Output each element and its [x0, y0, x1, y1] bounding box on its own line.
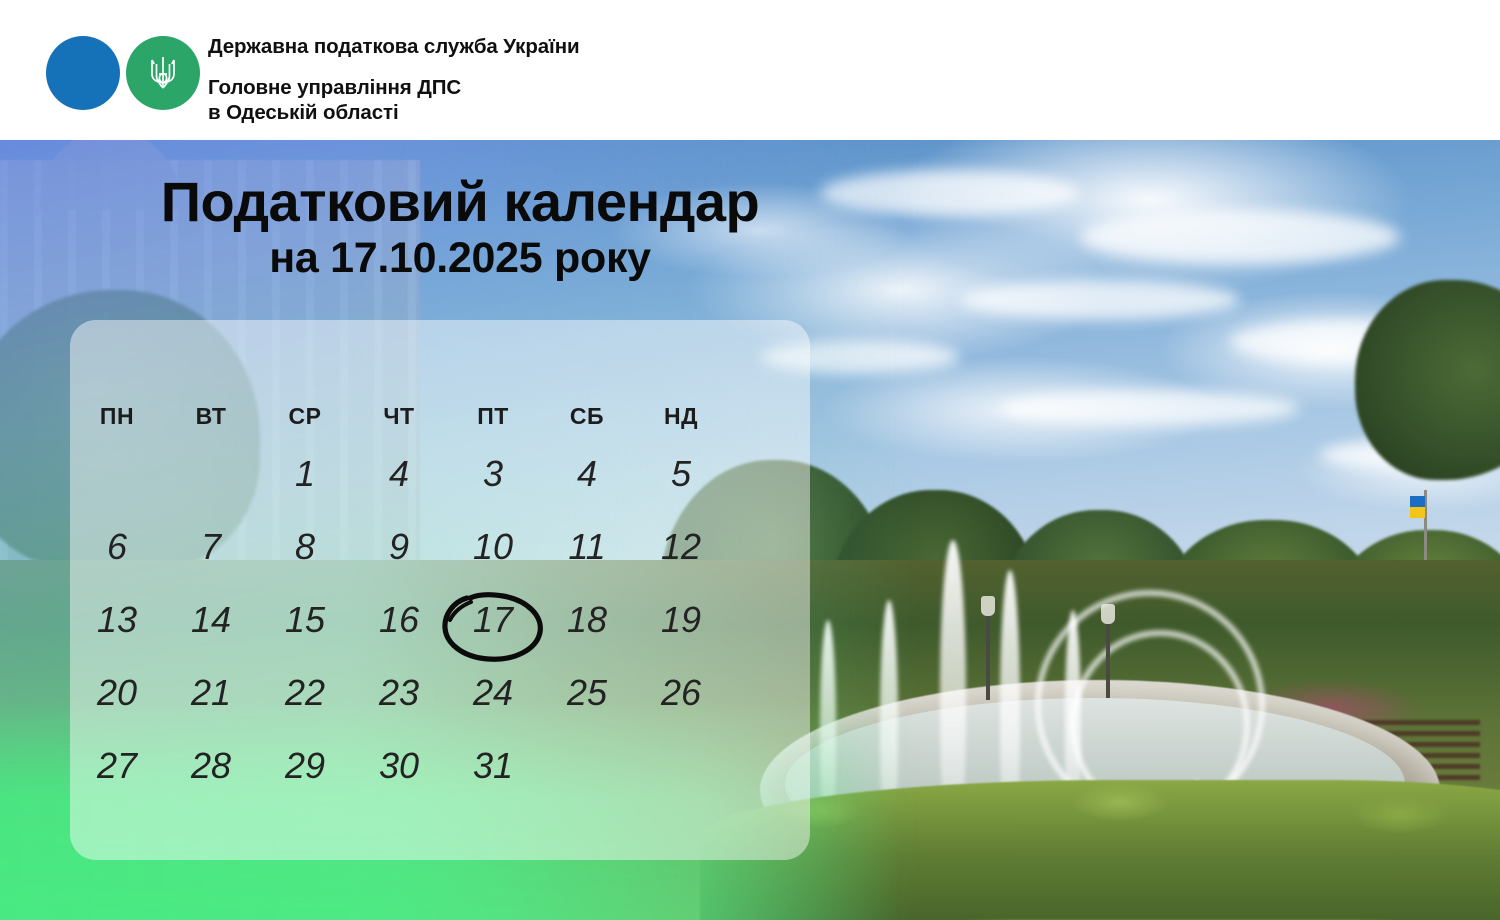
calendar-day-cell[interactable]: 15: [258, 590, 352, 663]
calendar-weekday-header-row: ПН ВТ СР ЧТ ПТ СБ НД: [70, 400, 810, 444]
page-header: Державна податкова служба України Головн…: [0, 0, 1500, 140]
calendar-day-cell[interactable]: 1: [258, 444, 352, 517]
calendar-day-cell[interactable]: 4: [352, 444, 446, 517]
calendar-day-cell[interactable]: 27: [70, 736, 164, 809]
calendar-day-cell[interactable]: 9: [352, 517, 446, 590]
organization-name-block: Державна податкова служба України Головн…: [208, 36, 1008, 126]
calendar-day-cell[interactable]: 21: [164, 663, 258, 736]
calendar-day-cell[interactable]: 12: [634, 517, 728, 590]
calendar-day-cell[interactable]: 23: [352, 663, 446, 736]
page-title: Податковий календар: [60, 172, 860, 231]
weekday-header-wed: СР: [258, 400, 352, 444]
calendar-day-cell[interactable]: 4: [540, 444, 634, 517]
calendar-week-row: 1 4 3 4 5: [70, 444, 810, 517]
calendar-day-cell[interactable]: 24: [446, 663, 540, 736]
weekday-header-fri: ПТ: [446, 400, 540, 444]
calendar-day-number: 17: [473, 599, 513, 640]
calendar-grid: ПН ВТ СР ЧТ ПТ СБ НД 1 4 3 4 5 6 7 8 9 1…: [70, 400, 810, 809]
ukraine-trident-icon: [126, 36, 200, 110]
page-title-block: Податковий календар на 17.10.2025 року: [60, 172, 860, 283]
calendar-day-cell[interactable]: 28: [164, 736, 258, 809]
calendar-day-cell: [634, 736, 728, 809]
calendar-day-cell[interactable]: 10: [446, 517, 540, 590]
organization-department: Головне управління ДПС: [208, 75, 1008, 101]
calendar-day-cell: [164, 444, 258, 517]
organization-logo: [46, 36, 206, 110]
calendar-week-row: 27 28 29 30 31: [70, 736, 810, 809]
calendar-day-cell[interactable]: 5: [634, 444, 728, 517]
calendar-day-cell[interactable]: 11: [540, 517, 634, 590]
calendar-week-row: 6 7 8 9 10 11 12: [70, 517, 810, 590]
calendar-day-cell[interactable]: 22: [258, 663, 352, 736]
calendar-day-cell[interactable]: 25: [540, 663, 634, 736]
calendar-day-cell[interactable]: 14: [164, 590, 258, 663]
calendar-day-cell: [540, 736, 634, 809]
logo-blue-circle: [46, 36, 120, 110]
calendar-day-cell[interactable]: 13: [70, 590, 164, 663]
calendar-day-cell[interactable]: 16: [352, 590, 446, 663]
calendar-day-cell: [70, 444, 164, 517]
calendar-day-cell[interactable]: 30: [352, 736, 446, 809]
calendar-day-cell[interactable]: 26: [634, 663, 728, 736]
organization-region: в Одеській області: [208, 100, 1008, 126]
calendar-day-cell[interactable]: 7: [164, 517, 258, 590]
calendar-day-cell[interactable]: 3: [446, 444, 540, 517]
organization-name-secondary: Головне управління ДПС в Одеській област…: [208, 75, 1008, 126]
weekday-header-thu: ЧТ: [352, 400, 446, 444]
tax-calendar-poster: Податковий календар на 17.10.2025 року Ж…: [0, 0, 1500, 920]
page-subtitle: на 17.10.2025 року: [60, 235, 860, 282]
calendar-day-cell[interactable]: 29: [258, 736, 352, 809]
weekday-header-tue: ВТ: [164, 400, 258, 444]
calendar-day-cell[interactable]: 31: [446, 736, 540, 809]
weekday-header-mon: ПН: [70, 400, 164, 444]
calendar-day-cell-highlighted[interactable]: 17: [446, 590, 540, 663]
calendar-day-cell[interactable]: 8: [258, 517, 352, 590]
weekday-header-sat: СБ: [540, 400, 634, 444]
calendar-day-cell[interactable]: 20: [70, 663, 164, 736]
weekday-header-sun: НД: [634, 400, 728, 444]
calendar-day-cell[interactable]: 19: [634, 590, 728, 663]
calendar-week-row: 20 21 22 23 24 25 26: [70, 663, 810, 736]
calendar-day-cell[interactable]: 18: [540, 590, 634, 663]
calendar-week-row: 13 14 15 16 17 18 19: [70, 590, 810, 663]
organization-name-primary: Державна податкова служба України: [208, 36, 1008, 59]
calendar-day-cell[interactable]: 6: [70, 517, 164, 590]
